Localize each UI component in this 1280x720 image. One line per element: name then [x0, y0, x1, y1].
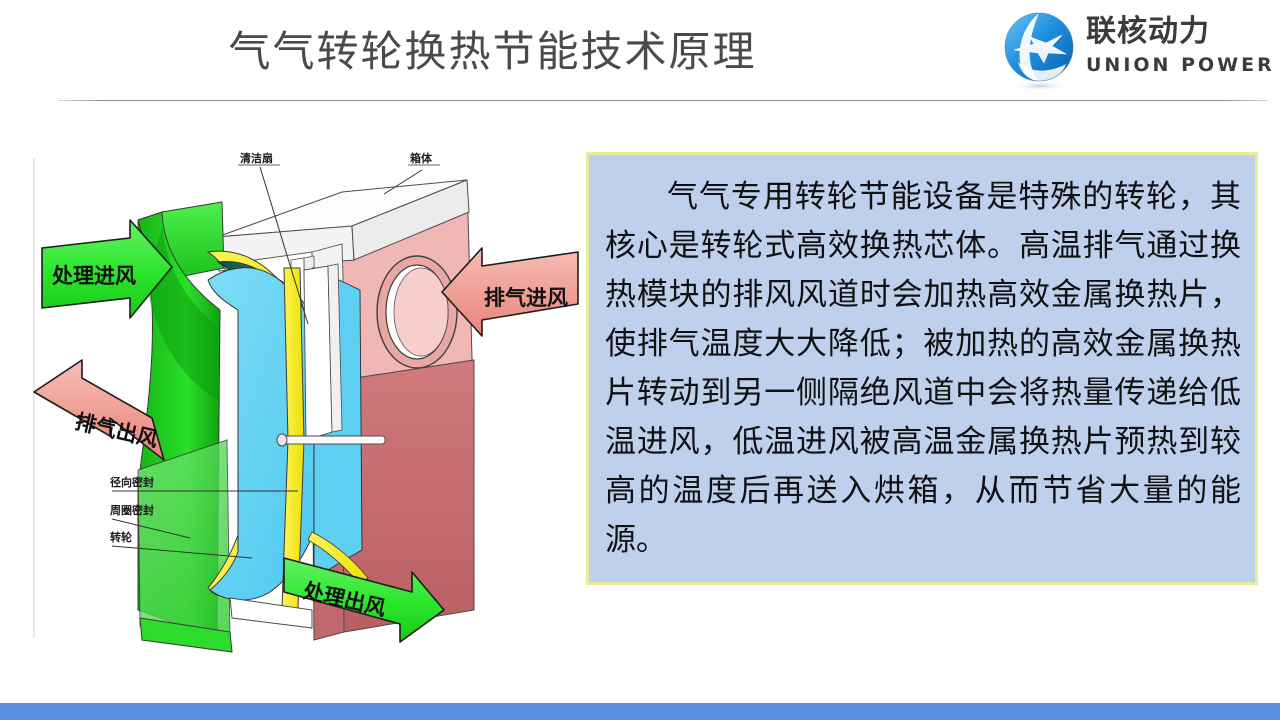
union-power-sphere-icon: [1000, 10, 1080, 92]
company-logo: 联核动力 UNION POWER: [1000, 8, 1272, 94]
slide-header: 气气转轮换热节能技术原理: [0, 0, 1280, 102]
heat-wheel-diagram: 清洁扇 箱体 径向密封 周圈密封 转轮: [12, 140, 582, 660]
callout-label-rotor: 转轮: [110, 530, 132, 544]
diagram-svg: 清洁扇 箱体 径向密封 周圈密封 转轮: [12, 140, 582, 660]
callout-label-radial-seal: 径向密封: [110, 475, 154, 489]
callout-label-cabinet: 箱体: [410, 151, 433, 165]
description-text: 气气专用转轮节能设备是特殊的转轮，其核心是转轮式高效换热芯体。高温排气通过换热模…: [605, 173, 1241, 565]
logo-name-cn: 联核动力: [1086, 14, 1272, 50]
rotor-shaft: [280, 436, 385, 444]
rotor-base-plate: [230, 598, 312, 628]
flow-arrow-exhaust-air-out: 排气出风: [34, 360, 164, 460]
page-title: 气气转轮换热节能技术原理: [0, 18, 985, 79]
flow-arrow-label-process-air-in: 处理进风: [51, 264, 136, 288]
flow-arrow-label-exhaust-air-in: 排气进风: [484, 286, 568, 310]
callout-label-circumferential-seal: 周圈密封: [110, 503, 154, 517]
callout-label-clean-fan: 清洁扇: [240, 151, 273, 165]
header-divider: [58, 100, 1268, 101]
slide: 气气转轮换热节能技术原理: [0, 0, 1280, 720]
logo-name-en: UNION POWER: [1086, 53, 1272, 77]
description-panel: 气气专用转轮节能设备是特殊的转轮，其核心是转轮式高效换热芯体。高温排气通过换热模…: [586, 152, 1258, 585]
logo-wordmark: 联核动力 UNION POWER: [1086, 14, 1272, 77]
divider-plate: [304, 266, 332, 440]
footer-bar: [0, 703, 1280, 720]
